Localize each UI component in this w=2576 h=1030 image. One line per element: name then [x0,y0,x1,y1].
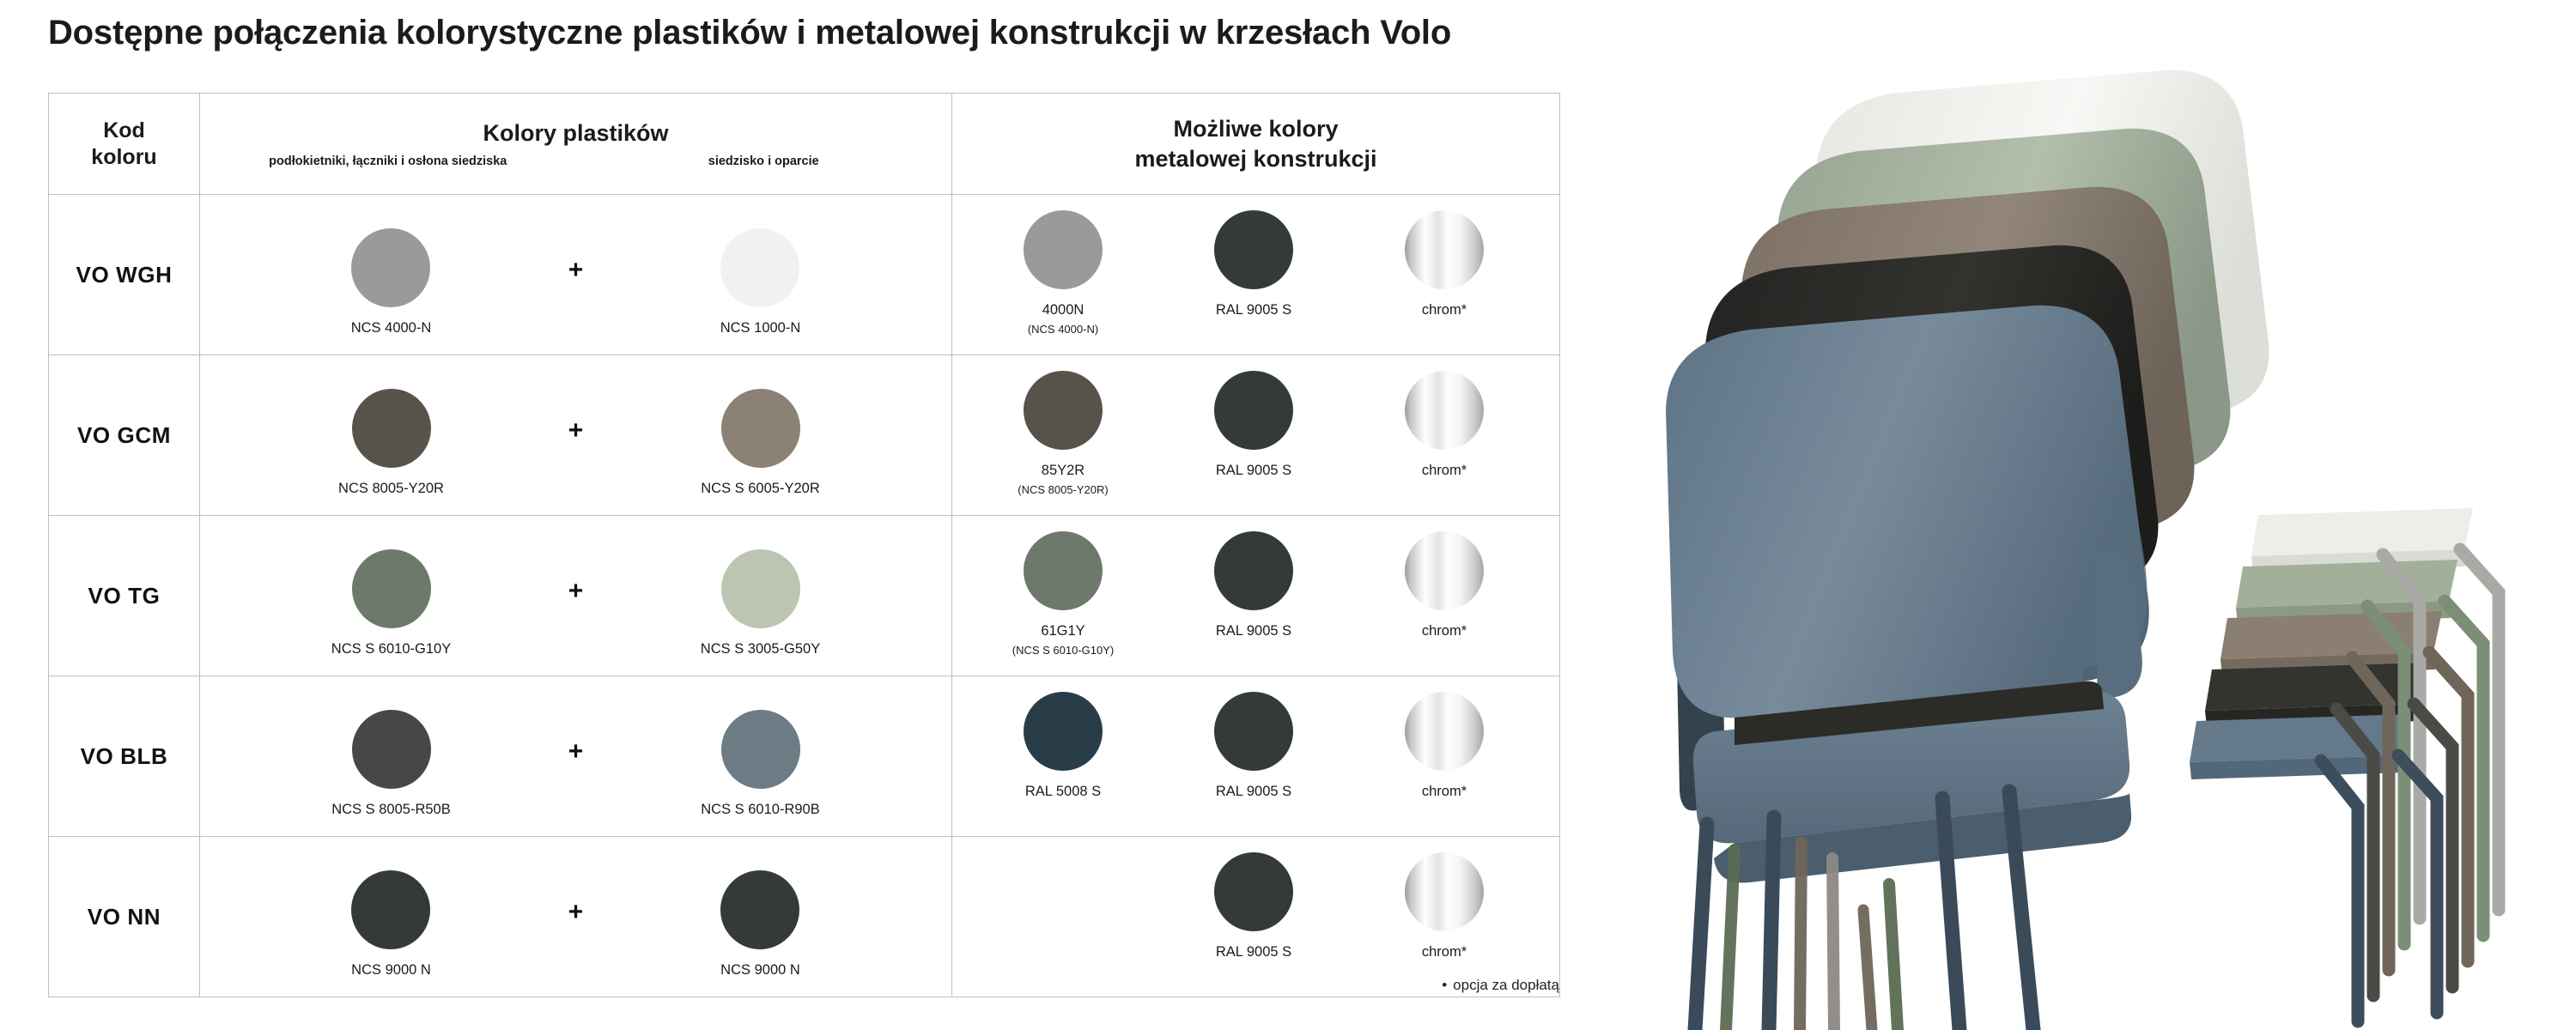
metal-swatch-1-dot [1214,852,1293,931]
plastic-swatch-seat-back[interactable]: NCS 1000-N [720,213,801,337]
color-code-label: VO TG [88,583,161,609]
plastic-swatch-seat-back[interactable]: NCS 9000 N [720,855,800,979]
plastic-swatch-seat-back-dot [720,228,799,307]
metal-colors-cell: RAL 5008 SRAL 9005 Schrom* [952,676,1560,837]
metal-swatch-0-dot [1024,210,1103,289]
metal-swatch-2-dot [1405,371,1484,450]
header-cell-metal: Możliwe kolory metalowej konstrukcji [952,94,1560,195]
plastic-swatch-armrests-label: NCS S 8005-R50B [331,802,451,819]
header-code-line2: koloru [91,145,156,169]
plastic-swatch-seat-back-dot [721,549,800,628]
metal-colors-cell: 4000N(NCS 4000-N)RAL 9005 Schrom* [952,195,1560,355]
metal-swatch-0[interactable]: 4000N(NCS 4000-N) [1024,195,1103,336]
plastic-swatch-armrests[interactable]: NCS 4000-N [351,213,432,337]
plastic-swatch-seat-back-dot [721,389,800,468]
footnote-text: opcja za dopłatą [1453,977,1559,993]
metal-swatch-1-label: RAL 9005 S [1216,623,1291,640]
plastic-swatch-seat-back[interactable]: NCS S 3005-G50Y [701,534,820,658]
header-plastics-title: Kolory plastików [200,119,951,148]
metal-swatch-0[interactable]: RAL 5008 S [1024,676,1103,801]
header-cell-plastics: Kolory plastików podłokietniki, łączniki… [200,94,952,195]
plastic-swatch-armrests-label: NCS 8005-Y20R [338,481,444,498]
plus-icon: + [568,416,584,445]
chair-shell-blue [1666,306,2149,718]
metal-swatch-0-label: 4000N [1042,302,1084,319]
header-row: Kod koloru Kolory plastików podłokietnik… [49,94,1560,195]
chair-seats-and-legs-group [2190,508,2499,1021]
metal-swatch-0-sublabel: (NCS 8005-Y20R) [1018,483,1109,496]
plastic-swatch-seat-back-label: NCS S 3005-G50Y [701,641,820,658]
color-code-cell: VO TG [49,516,200,676]
chair-stack-illustration [1606,0,2576,1030]
table-body: VO WGHNCS 4000-N+NCS 1000-N4000N(NCS 400… [49,195,1560,997]
metal-swatch-1-label: RAL 9005 S [1216,944,1291,961]
metal-swatch-1-dot [1214,210,1293,289]
plastic-swatch-armrests-dot [351,870,430,949]
header-metal-line1: Możliwe kolory [1173,116,1338,142]
color-code-label: VO BLB [81,743,168,769]
metal-swatch-0[interactable]: 85Y2R(NCS 8005-Y20R) [1018,355,1109,496]
header-plastics-sub-right: siedzisko i oparcie [576,154,952,168]
metal-swatch-1[interactable]: RAL 9005 S [1214,355,1293,480]
metal-swatch-0[interactable]: 61G1Y(NCS S 6010-G10Y) [1012,516,1115,657]
plus-icon: + [568,737,584,766]
plastic-swatch-armrests[interactable]: NCS 9000 N [351,855,431,979]
page-title: Dostępne połączenia kolorystyczne plasti… [48,14,1451,52]
metal-swatch-2-label: chrom* [1422,784,1467,801]
plastic-swatch-seat-back-dot [720,870,799,949]
plastic-swatch-seat-back-label: NCS S 6005-Y20R [701,481,820,498]
metal-swatch-2-label: chrom* [1422,623,1467,640]
plastic-colors-cell: NCS S 6010-G10Y+NCS S 3005-G50Y [200,516,952,676]
metal-swatch-0-label: 85Y2R [1042,463,1084,480]
metal-swatch-2[interactable]: chrom* [1405,195,1484,319]
plastic-swatch-seat-back[interactable]: NCS S 6005-Y20R [701,373,820,498]
metal-swatch-1[interactable]: RAL 9005 S [1214,195,1293,319]
metal-swatch-2-label: chrom* [1422,944,1467,961]
table-row: VO NNNCS 9000 N+NCS 9000 NRAL 9005 Schro… [49,837,1560,997]
header-code-line1: Kod [103,118,145,142]
plastic-colors-cell: NCS S 8005-R50B+NCS S 6010-R90B [200,676,952,837]
color-code-label: VO NN [88,904,161,930]
metal-swatch-0-label: RAL 5008 S [1025,784,1101,801]
plastic-swatch-armrests-dot [352,549,431,628]
plastic-colors-cell: NCS 4000-N+NCS 1000-N [200,195,952,355]
header-plastics-sub-left: podłokietniki, łączniki i osłona siedzis… [200,154,576,168]
plus-icon: + [568,256,584,285]
plastic-swatch-seat-back-label: NCS S 6010-R90B [701,802,820,819]
metal-colors-cell: 61G1Y(NCS S 6010-G10Y)RAL 9005 Schrom* [952,516,1560,676]
table-row: VO TGNCS S 6010-G10Y+NCS S 3005-G50Y61G1… [49,516,1560,676]
color-code-label: VO WGH [76,262,173,288]
plastic-swatch-armrests-dot [352,710,431,789]
plastic-colors-cell: NCS 9000 N+NCS 9000 N [200,837,952,997]
metal-swatch-0-dot [1024,692,1103,771]
metal-colors-cell: 85Y2R(NCS 8005-Y20R)RAL 9005 Schrom* [952,355,1560,516]
plastic-swatch-armrests-label: NCS S 6010-G10Y [331,641,451,658]
plastic-swatch-armrests[interactable]: NCS S 8005-R50B [331,694,451,819]
metal-swatch-1-label: RAL 9005 S [1216,784,1291,801]
metal-swatch-2[interactable]: chrom* [1405,355,1484,480]
metal-swatch-2-dot [1405,210,1484,289]
metal-swatch-1[interactable]: RAL 9005 S [1214,516,1293,640]
metal-swatch-0-dot [1024,531,1103,610]
plus-icon: + [568,577,584,606]
metal-swatch-2[interactable]: chrom* [1405,516,1484,640]
color-code-cell: VO WGH [49,195,200,355]
product-photo-stacked-chairs [1606,0,2576,1030]
metal-colors-cell: RAL 9005 Schrom* [952,837,1560,997]
table-header: Kod koloru Kolory plastików podłokietnik… [49,94,1560,195]
metal-swatch-0-dot [1024,371,1103,450]
plus-icon: + [568,898,584,927]
header-metal-line2: metalowej konstrukcji [1134,146,1376,172]
page-root: Dostępne połączenia kolorystyczne plasti… [0,0,2576,1030]
metal-swatch-1-label: RAL 9005 S [1216,302,1291,319]
metal-swatch-2[interactable]: chrom* [1405,676,1484,801]
plastic-swatch-armrests-dot [352,389,431,468]
metal-swatch-0-label: 61G1Y [1041,623,1084,640]
table-row: VO BLBNCS S 8005-R50B+NCS S 6010-R90BRAL… [49,676,1560,837]
plastic-swatch-armrests-label: NCS 4000-N [351,320,432,337]
metal-swatch-1-dot [1214,692,1293,771]
metal-swatch-1-dot [1214,531,1293,610]
plastic-swatch-armrests[interactable]: NCS S 6010-G10Y [331,534,451,658]
metal-swatch-1-dot [1214,371,1293,450]
metal-swatch-2-label: chrom* [1422,463,1467,480]
color-code-cell: VO NN [49,837,200,997]
table-row: VO GCMNCS 8005-Y20R+NCS S 6005-Y20R85Y2R… [49,355,1560,516]
color-code-cell: VO BLB [49,676,200,837]
metal-swatch-1[interactable]: RAL 9005 S [1214,837,1293,961]
metal-swatch-2-dot [1405,692,1484,771]
metal-swatch-0-sublabel: (NCS S 6010-G10Y) [1012,644,1115,657]
metal-swatch-2[interactable]: chrom* [1405,837,1484,961]
color-combination-table: Kod koloru Kolory plastików podłokietnik… [48,93,1560,997]
plastic-swatch-armrests-dot [351,228,430,307]
metal-swatch-2-dot [1405,531,1484,610]
chair-backrest-shells-group [1666,70,2269,1030]
metal-swatch-1[interactable]: RAL 9005 S [1214,676,1293,801]
footnote: •opcja za dopłatą [48,977,1559,994]
color-combination-table-wrap: Kod koloru Kolory plastików podłokietnik… [48,93,1559,997]
plastic-swatch-seat-back-label: NCS 1000-N [720,320,801,337]
header-cell-code: Kod koloru [49,94,200,195]
table-row: VO WGHNCS 4000-N+NCS 1000-N4000N(NCS 400… [49,195,1560,355]
metal-swatch-2-dot [1405,852,1484,931]
metal-swatch-0-sublabel: (NCS 4000-N) [1028,323,1098,336]
metal-swatch-1-label: RAL 9005 S [1216,463,1291,480]
metal-swatch-2-label: chrom* [1422,302,1467,319]
footnote-bullet-icon: • [1442,977,1447,993]
plastic-swatch-seat-back-dot [721,710,800,789]
plastic-colors-cell: NCS 8005-Y20R+NCS S 6005-Y20R [200,355,952,516]
plastic-swatch-seat-back[interactable]: NCS S 6010-R90B [701,694,820,819]
color-code-cell: VO GCM [49,355,200,516]
color-code-label: VO GCM [77,422,171,448]
plastic-swatch-armrests[interactable]: NCS 8005-Y20R [338,373,444,498]
